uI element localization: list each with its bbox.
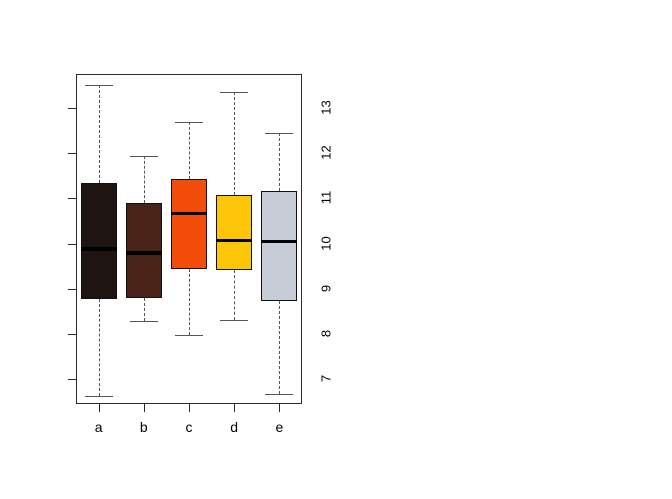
boxplot-whisker-upper [279,133,280,191]
boxplot-x-tick-label: a [84,419,114,435]
boxplot-whisker-cap-upper [85,85,113,86]
boxplot-whisker-cap-lower [175,335,203,336]
boxplot-panel: 13121110987abcde [0,0,336,499]
boxplot-y-tick-label: 9 [320,278,333,298]
boxplot-x-tick [279,404,280,412]
boxplot-y-tick [68,153,76,154]
boxplot-whisker-upper [189,122,190,179]
boxplot-y-tick [68,198,76,199]
boxplot-x-tick [99,404,100,412]
boxplot-x-tick-label: c [174,419,204,435]
boxplot-median-line [261,240,297,243]
boxplot-y-tick-label: 10 [320,233,333,253]
boxplot-box[interactable] [171,179,207,269]
boxplot-y-tick-label: 11 [320,188,333,208]
boxplot-x-tick-label: d [219,419,249,435]
boxplot-whisker-cap-lower [130,321,158,322]
boxplot-whisker-lower [144,298,145,321]
boxplot-x-tick-label: b [129,419,159,435]
boxplot-whisker-lower [234,270,235,320]
boxplot-median-line [81,247,117,250]
boxplot-box[interactable] [261,191,297,301]
boxplot-whisker-upper [144,156,145,203]
boxplot-y-tick-label: 7 [320,369,333,389]
boxplot-whisker-upper [99,85,100,184]
boxplot-whisker-cap-upper [220,92,248,93]
boxplot-median-line [126,251,162,254]
boxplot-whisker-cap-lower [220,320,248,321]
boxplot-y-tick [68,108,76,109]
boxplot-median-line [216,239,252,242]
boxplot-whisker-cap-upper [265,133,293,134]
boxplot-x-tick [144,404,145,412]
boxplot-y-tick-label: 12 [320,143,333,163]
boxplot-whisker-lower [189,269,190,335]
boxplot-whisker-cap-lower [265,394,293,395]
boxplot-x-tick [189,404,190,412]
boxplot-whisker-cap-lower [85,396,113,397]
boxplot-y-tick [68,379,76,380]
boxplot-x-tick [234,404,235,412]
boxplot-box[interactable] [126,203,162,298]
boxplot-median-line [171,212,207,215]
boxplot-whisker-cap-upper [130,156,158,157]
density-panel: 3210-1-2-3-2000100200 [336,0,672,499]
boxplot-y-tick-label: 13 [320,97,333,117]
boxplot-y-tick [68,289,76,290]
boxplot-whisker-lower [99,299,100,396]
boxplot-x-tick-label: e [264,419,294,435]
boxplot-whisker-lower [279,301,280,394]
boxplot-y-tick-label: 8 [320,323,333,343]
boxplot-y-tick [68,334,76,335]
boxplot-box[interactable] [81,183,117,299]
boxplot-y-tick [68,244,76,245]
boxplot-whisker-upper [234,92,235,195]
boxplot-box[interactable] [216,195,252,270]
boxplot-whisker-cap-upper [175,122,203,123]
